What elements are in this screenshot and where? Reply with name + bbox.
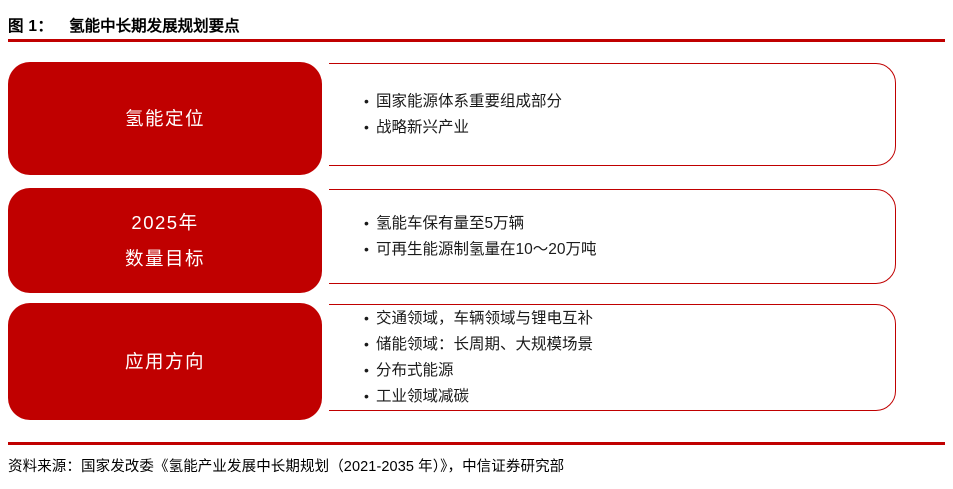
diagram-row: 国家能源体系重要组成部分 战略新兴产业 氢能定位 (8, 62, 896, 175)
list-item: 交通领域，车辆领域与锂电互补 (364, 306, 895, 332)
row-label-box: 氢能定位 (8, 62, 322, 175)
diagram-row: 氢能车保有量至5万辆 可再生能源制氢量在10～20万吨 2025年 数量目标 (8, 188, 896, 293)
row-label-line: 2025年 (131, 213, 198, 232)
footer-divider (8, 442, 945, 445)
list-item: 国家能源体系重要组成部分 (364, 89, 895, 115)
row-content-box: 氢能车保有量至5万辆 可再生能源制氢量在10～20万吨 (327, 189, 896, 284)
list-item: 可再生能源制氢量在10～20万吨 (364, 237, 895, 263)
list-item: 分布式能源 (364, 358, 895, 384)
row-label-box: 应用方向 (8, 303, 322, 420)
row-seam (326, 188, 329, 293)
row-content-box: 交通领域，车辆领域与锂电互补 储能领域：长周期、大规模场景 分布式能源 工业领域… (327, 304, 896, 411)
bullet-list: 国家能源体系重要组成部分 战略新兴产业 (364, 89, 895, 141)
diagram-row: 交通领域，车辆领域与锂电互补 储能领域：长周期、大规模场景 分布式能源 工业领域… (8, 303, 896, 420)
row-content-box: 国家能源体系重要组成部分 战略新兴产业 (327, 63, 896, 166)
row-label-box: 2025年 数量目标 (8, 188, 322, 293)
row-label-line: 数量目标 (125, 249, 205, 268)
list-item: 工业领域减碳 (364, 384, 895, 410)
row-seam (326, 62, 329, 175)
list-item: 战略新兴产业 (364, 115, 895, 141)
source-note: 资料来源：国家发改委《氢能产业发展中长期规划（2021-2035 年）》，中信证… (8, 455, 564, 476)
list-item: 储能领域：长周期、大规模场景 (364, 332, 895, 358)
bullet-list: 氢能车保有量至5万辆 可再生能源制氢量在10～20万吨 (364, 211, 895, 263)
bullet-list: 交通领域，车辆领域与锂电互补 储能领域：长周期、大规模场景 分布式能源 工业领域… (364, 306, 895, 410)
row-label-line: 氢能定位 (125, 109, 205, 128)
row-label-line: 应用方向 (125, 352, 205, 371)
diagram-container: 国家能源体系重要组成部分 战略新兴产业 氢能定位 氢能车保有量至5万辆 可再生能… (0, 0, 953, 489)
row-seam (326, 303, 329, 420)
list-item: 氢能车保有量至5万辆 (364, 211, 895, 237)
